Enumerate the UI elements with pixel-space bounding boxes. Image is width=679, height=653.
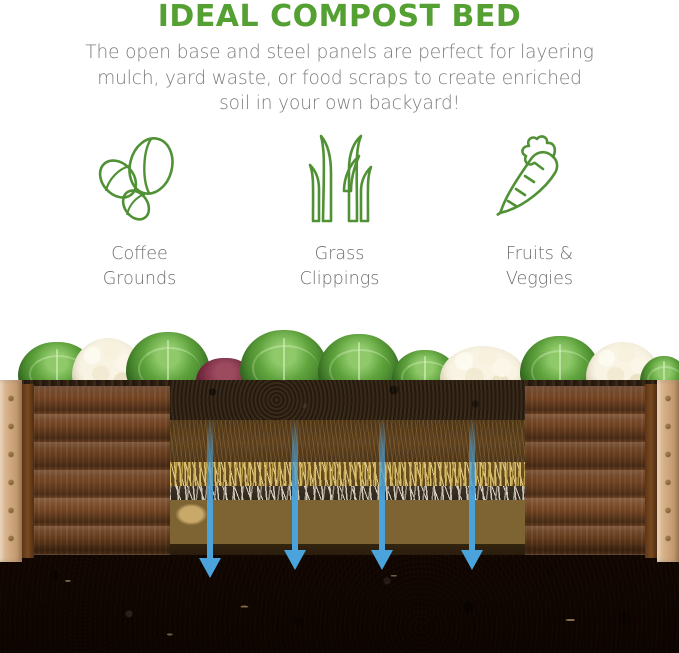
screw-icon: [666, 452, 671, 457]
feature-label-line-1: Fruits &: [440, 242, 640, 267]
ground-soil: [0, 550, 679, 653]
screw-icon: [666, 480, 671, 485]
arrow-shaft: [379, 418, 385, 556]
page-title: IDEAL COMPOST BED: [0, 0, 679, 34]
feature-grass-clippings-label: Grass Clippings: [240, 228, 440, 292]
screw-icon: [666, 396, 671, 401]
screw-icon: [9, 396, 14, 401]
subtitle-line-2: mulch, yard waste, or food scraps to cre…: [0, 66, 679, 92]
feature-label-line-1: Grass: [240, 242, 440, 267]
header-section: IDEAL COMPOST BED The open base and stee…: [0, 0, 679, 120]
screw-icon: [666, 508, 671, 513]
arrow-shaft: [469, 418, 475, 556]
feature-label-line-2: Grounds: [40, 267, 240, 292]
arrow-shaft: [292, 418, 298, 556]
screw-icon: [9, 452, 14, 457]
arrow-head: [461, 550, 483, 570]
screw-icon: [9, 536, 14, 541]
screw-icon: [9, 424, 14, 429]
drainage-arrow: [375, 418, 389, 570]
arrow-head: [371, 550, 393, 570]
drainage-arrow: [203, 418, 217, 578]
feature-coffee-grounds-label: Coffee Grounds: [40, 228, 240, 292]
coffee-beans-icon: [40, 128, 240, 228]
drainage-arrow: [288, 418, 302, 570]
bed-corner-post-left: [0, 380, 22, 562]
screw-icon: [9, 508, 14, 513]
bed-rail-left: [22, 384, 34, 558]
bed-corner-post-right: [657, 380, 679, 562]
bed-panel-left: [22, 386, 175, 555]
feature-label-line-2: Veggies: [440, 267, 640, 292]
screw-icon: [9, 480, 14, 485]
features-section: Coffee Grounds Grass Clippings: [0, 128, 679, 298]
arrow-shaft: [207, 418, 213, 564]
arrow-head: [199, 558, 221, 578]
screw-icon: [666, 424, 671, 429]
page-subtitle: The open base and steel panels are perfe…: [0, 34, 679, 117]
feature-label-line-1: Coffee: [40, 242, 240, 267]
product-photo: [0, 318, 679, 653]
layer-topsoil: [170, 380, 525, 420]
subtitle-line-1: The open base and steel panels are perfe…: [0, 40, 679, 66]
ideal-compost-bed-infographic: IDEAL COMPOST BED The open base and stee…: [0, 0, 679, 653]
bed-panel-right: [520, 386, 657, 555]
arrow-head: [284, 550, 306, 570]
feature-fruits-veggies-label: Fruits & Veggies: [440, 228, 640, 292]
feature-fruits-veggies: Fruits & Veggies: [440, 128, 640, 292]
screw-icon: [666, 536, 671, 541]
feature-coffee-grounds: Coffee Grounds: [40, 128, 240, 292]
grass-blades-icon: [240, 128, 440, 228]
carrot-icon: [440, 128, 640, 228]
drainage-arrow: [465, 418, 479, 570]
subtitle-line-3: soil in your own backyard!: [0, 91, 679, 117]
feature-grass-clippings: Grass Clippings: [240, 128, 440, 292]
bed-rail-right: [645, 384, 657, 558]
feature-label-line-2: Clippings: [240, 267, 440, 292]
